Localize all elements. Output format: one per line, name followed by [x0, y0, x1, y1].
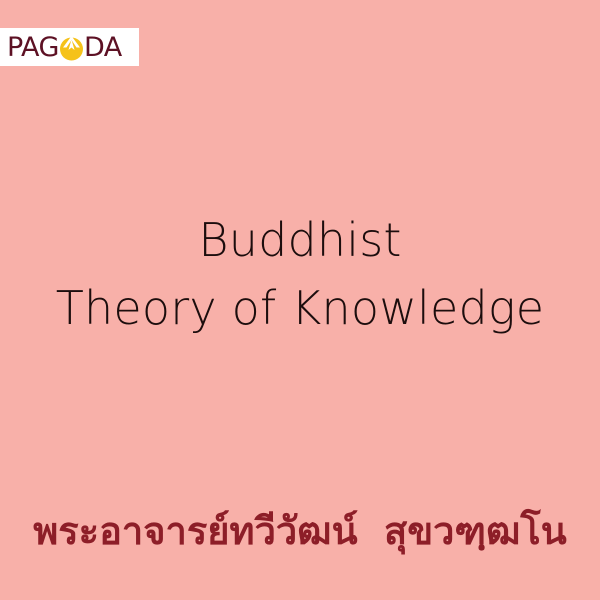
pagoda-roof-icon	[59, 36, 84, 61]
title-line-1: Buddhist	[0, 206, 600, 274]
title-line-2: Theory of Knowledge	[0, 274, 600, 342]
book-title: Buddhist Theory of Knowledge	[0, 206, 600, 342]
book-cover: PAG DA Buddhist Theory of Knowledge พระอ…	[0, 0, 600, 600]
logo-text-suffix: DA	[84, 34, 122, 61]
author-name: พระอาจารย์ทวีวัฒน์ สุขวฑฺฒโน	[0, 505, 600, 557]
publisher-logo[interactable]: PAG DA	[0, 28, 139, 66]
logo-inner: PAG DA	[7, 28, 122, 66]
logo-text-prefix: PAG	[7, 34, 59, 61]
